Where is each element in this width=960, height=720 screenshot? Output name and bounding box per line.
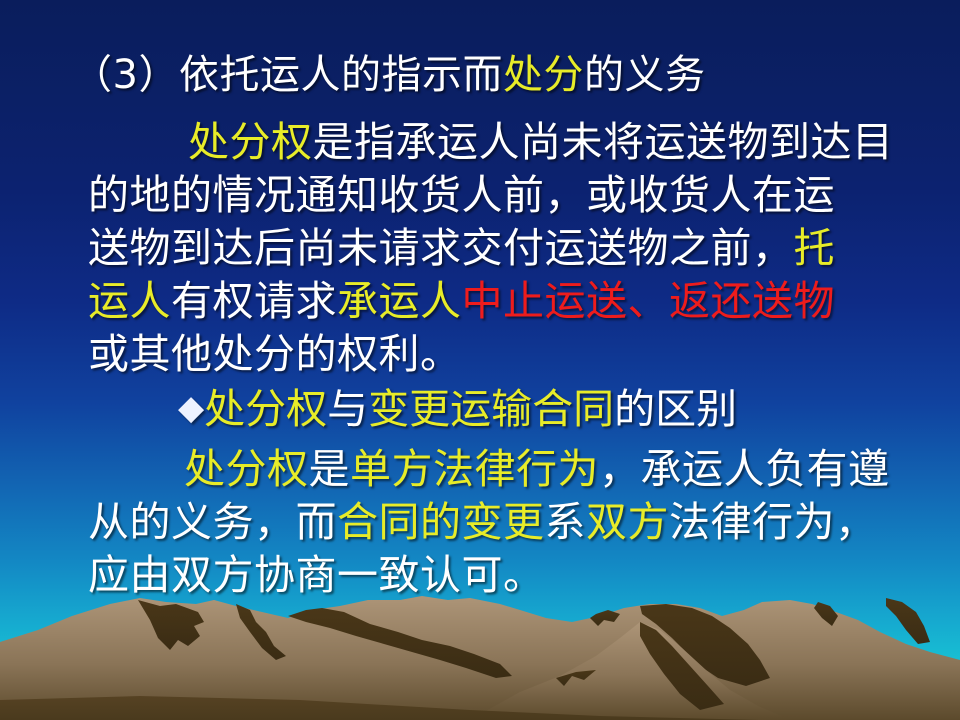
text-segment-yellow: 处分权 [188, 118, 313, 166]
text-segment-red: 中止运送、返还送物 [462, 277, 836, 325]
text-segment-yellow: 处分权 [204, 385, 327, 433]
text-segment-white: 的义务 [584, 52, 706, 98]
paragraph-line: 运人有权请求承运人中止运送、返还送物 [88, 275, 894, 328]
text-segment-white: 的区别 [614, 385, 737, 433]
bullet-heading-line: ◆处分权与变更运输合同的区别 [178, 382, 737, 436]
text-segment-yellow: 承运人 [337, 277, 462, 325]
text-segment-yellow: 运人 [88, 277, 171, 325]
presentation-slide: （3）依托运人的指示而处分的义务 处分权是指承运人尚未将运送物到达目的地的情况通… [0, 0, 960, 720]
text-segment-yellow: 处分权 [184, 445, 309, 493]
paragraph-line: 送物到达后尚未请求交付运送物之前，托 [88, 222, 894, 275]
paragraph-line: 或其他处分的权利。 [88, 328, 894, 381]
diamond-bullet-icon: ◆ [178, 388, 204, 428]
paragraph-line: 从的义务，而合同的变更系双方法律行为， [88, 496, 890, 549]
mountain-shadow-far-right-2 [886, 598, 930, 644]
text-segment-yellow: 双方 [586, 498, 669, 546]
mountain-scenery-graphic [0, 560, 960, 720]
text-segment-white: 法律行为， [669, 498, 877, 546]
text-segment-white: 是指承运人尚未将运送物到达目 [313, 118, 894, 166]
text-segment-white: 的地的情况通知收货人前，或收货人在运 [88, 171, 835, 219]
paragraph-line: 处分权是单方法律行为，承运人负有遵 [88, 443, 890, 496]
text-segment-white: 是 [309, 445, 351, 493]
text-segment-white: 或其他处分的权利。 [88, 330, 462, 378]
text-segment-white: 送物到达后尚未请求交付运送物之前， [88, 224, 794, 272]
text-segment-yellow: 变更运输合同 [368, 385, 614, 433]
text-segment-white: ，承运人负有遵 [599, 445, 890, 493]
text-segment-white: 从的义务，而 [88, 498, 337, 546]
text-segment-white: 与 [327, 385, 368, 433]
paragraph-line: 处分权是指承运人尚未将运送物到达目 [88, 116, 894, 169]
paragraph-line: 的地的情况通知收货人前，或收货人在运 [88, 169, 894, 222]
slide-title-line: （3）依托运人的指示而处分的义务 [72, 48, 705, 102]
bullet-heading-text: 处分权与变更运输合同的区别 [204, 385, 737, 433]
text-segment-white: 系 [545, 498, 587, 546]
paragraph-definition: 处分权是指承运人尚未将运送物到达目的地的情况通知收货人前，或收货人在运送物到达后… [88, 116, 894, 381]
text-segment-white: 有权请求 [171, 277, 337, 325]
text-segment-yellow: 托 [794, 224, 836, 272]
text-segment-white: （3）依托运人的指示而 [72, 52, 503, 98]
text-segment-yellow: 单方法律行为 [350, 445, 599, 493]
text-segment-yellow: 处分 [503, 52, 584, 98]
text-segment-yellow: 合同的变更 [337, 498, 545, 546]
